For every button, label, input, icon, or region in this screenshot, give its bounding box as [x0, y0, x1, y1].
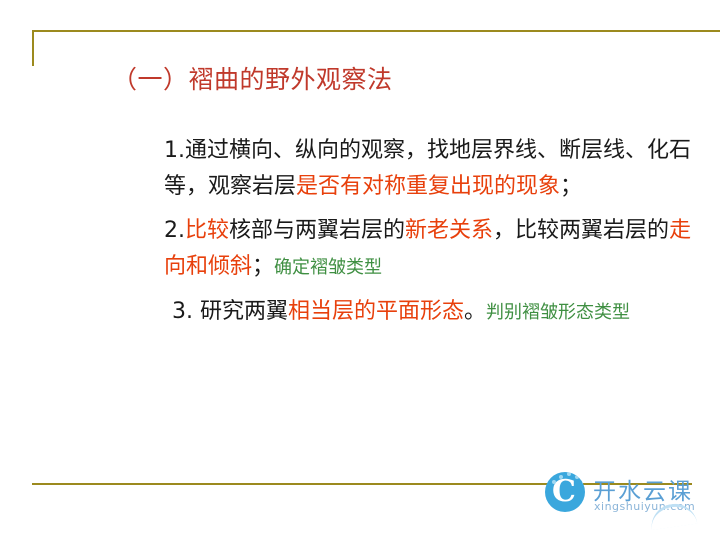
list-item: 3. 研究两翼相当层的平面形态。判别褶皱形态类型 — [172, 294, 700, 331]
list-item-text-segment: 。 — [464, 299, 486, 324]
list-item-text-segment: 研究两翼 — [193, 299, 288, 324]
slide-canvas: （一）褶曲的野外观察法 1.通过横向、纵向的观察，找地层界线、断层线、化石等，观… — [0, 0, 720, 540]
frame-line-top — [32, 30, 720, 32]
list-item-text-segment: ； — [252, 254, 274, 279]
list-item: 1.通过横向、纵向的观察，找地层界线、断层线、化石等，观察岩层是否有对称重复出现… — [164, 133, 700, 205]
list-item-number: 1. — [164, 138, 185, 163]
list-item-number: 2. — [164, 218, 185, 243]
content-list: 1.通过横向、纵向的观察，找地层界线、断层线、化石等，观察岩层是否有对称重复出现… — [160, 133, 700, 331]
brand-logo: C 开水云课 xingshuiyun.com — [545, 470, 695, 530]
list-item-text-segment: 相当层的平面形态 — [288, 299, 464, 324]
list-item-text-segment: 新老关系 — [405, 218, 493, 243]
list-item-note: 判别褶皱形态类型 — [486, 302, 630, 323]
logo-circle-icon: C — [545, 472, 585, 512]
list-item-note: 确定褶皱类型 — [274, 257, 382, 278]
list-item-text-segment: ，比较两翼岩层的 — [493, 218, 669, 243]
list-item: 2.比较核部与两翼岩层的新老关系，比较两翼岩层的走向和倾斜；确定褶皱类型 — [164, 213, 700, 286]
list-item-text-segment: ； — [560, 174, 582, 199]
list-item-number: 3. — [172, 299, 193, 324]
list-item-text-segment: 比较 — [185, 218, 229, 243]
frame-line-left — [32, 30, 34, 66]
list-item-text-segment: 核部与两翼岩层的 — [229, 218, 405, 243]
list-item-text-segment: 是否有对称重复出现的现象 — [296, 174, 560, 199]
logo-dots-icon — [550, 472, 585, 488]
page-title: （一）褶曲的野外观察法 — [112, 64, 393, 96]
